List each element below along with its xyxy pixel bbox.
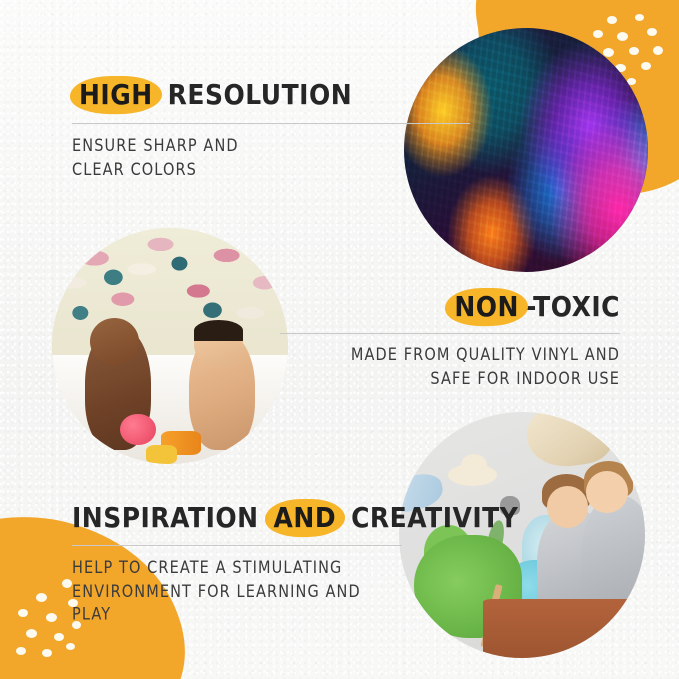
baby-left-head bbox=[90, 318, 140, 365]
cloud-decal bbox=[448, 464, 497, 486]
highlighted-word-high: HIGH bbox=[72, 78, 160, 110]
baby-right-hair bbox=[194, 320, 244, 341]
highlighted-word-non: NON bbox=[447, 290, 526, 322]
babies-floral-wallpaper-image bbox=[52, 228, 288, 464]
feature-heading-inspiration-creativity: INSPIRATION AND CREATIVITY bbox=[72, 501, 402, 533]
feature-block-non-toxic: NON -TOXIC MADE FROM QUALITY VINYL AND S… bbox=[280, 292, 620, 385]
heading-before-inspiration: INSPIRATION bbox=[72, 501, 259, 533]
heading-rest-creativity: CREATIVITY bbox=[351, 501, 518, 533]
wooden-desk bbox=[483, 599, 645, 658]
heading-rest-toxic: -TOXIC bbox=[526, 290, 620, 322]
feature-heading-high-resolution: HIGH RESOLUTION bbox=[72, 78, 472, 110]
divider-line-non-toxic bbox=[280, 333, 620, 334]
feature-description-inspiration-creativity: HELP TO CREATE A STIMULATING ENVIRONMENT… bbox=[72, 557, 402, 627]
infographic-canvas: HIGH RESOLUTION ENSURE SHARP AND CLEAR C… bbox=[0, 0, 679, 679]
highlighted-word-and: AND bbox=[267, 501, 344, 533]
floral-wallpaper bbox=[52, 228, 288, 365]
feature-description-high-resolution: ENSURE SHARP AND CLEAR COLORS bbox=[72, 135, 472, 182]
feature-heading-non-toxic: NON -TOXIC bbox=[280, 290, 620, 322]
feature-block-high-resolution: HIGH RESOLUTION ENSURE SHARP AND CLEAR C… bbox=[72, 80, 472, 176]
feature-block-inspiration-creativity: INSPIRATION AND CREATIVITY HELP TO CREAT… bbox=[72, 503, 402, 619]
child-back-head bbox=[547, 486, 589, 528]
divider-line-inspiration-creativity bbox=[72, 545, 402, 546]
divider-line-high-resolution bbox=[72, 123, 470, 124]
kids-dinosaur-decals-image bbox=[399, 412, 645, 658]
feature-description-non-toxic: MADE FROM QUALITY VINYL AND SAFE FOR IND… bbox=[280, 344, 620, 391]
child-front-head bbox=[586, 471, 628, 513]
toy-block bbox=[146, 445, 177, 464]
toy-ball bbox=[120, 414, 155, 445]
heading-rest-resolution: RESOLUTION bbox=[168, 78, 352, 110]
